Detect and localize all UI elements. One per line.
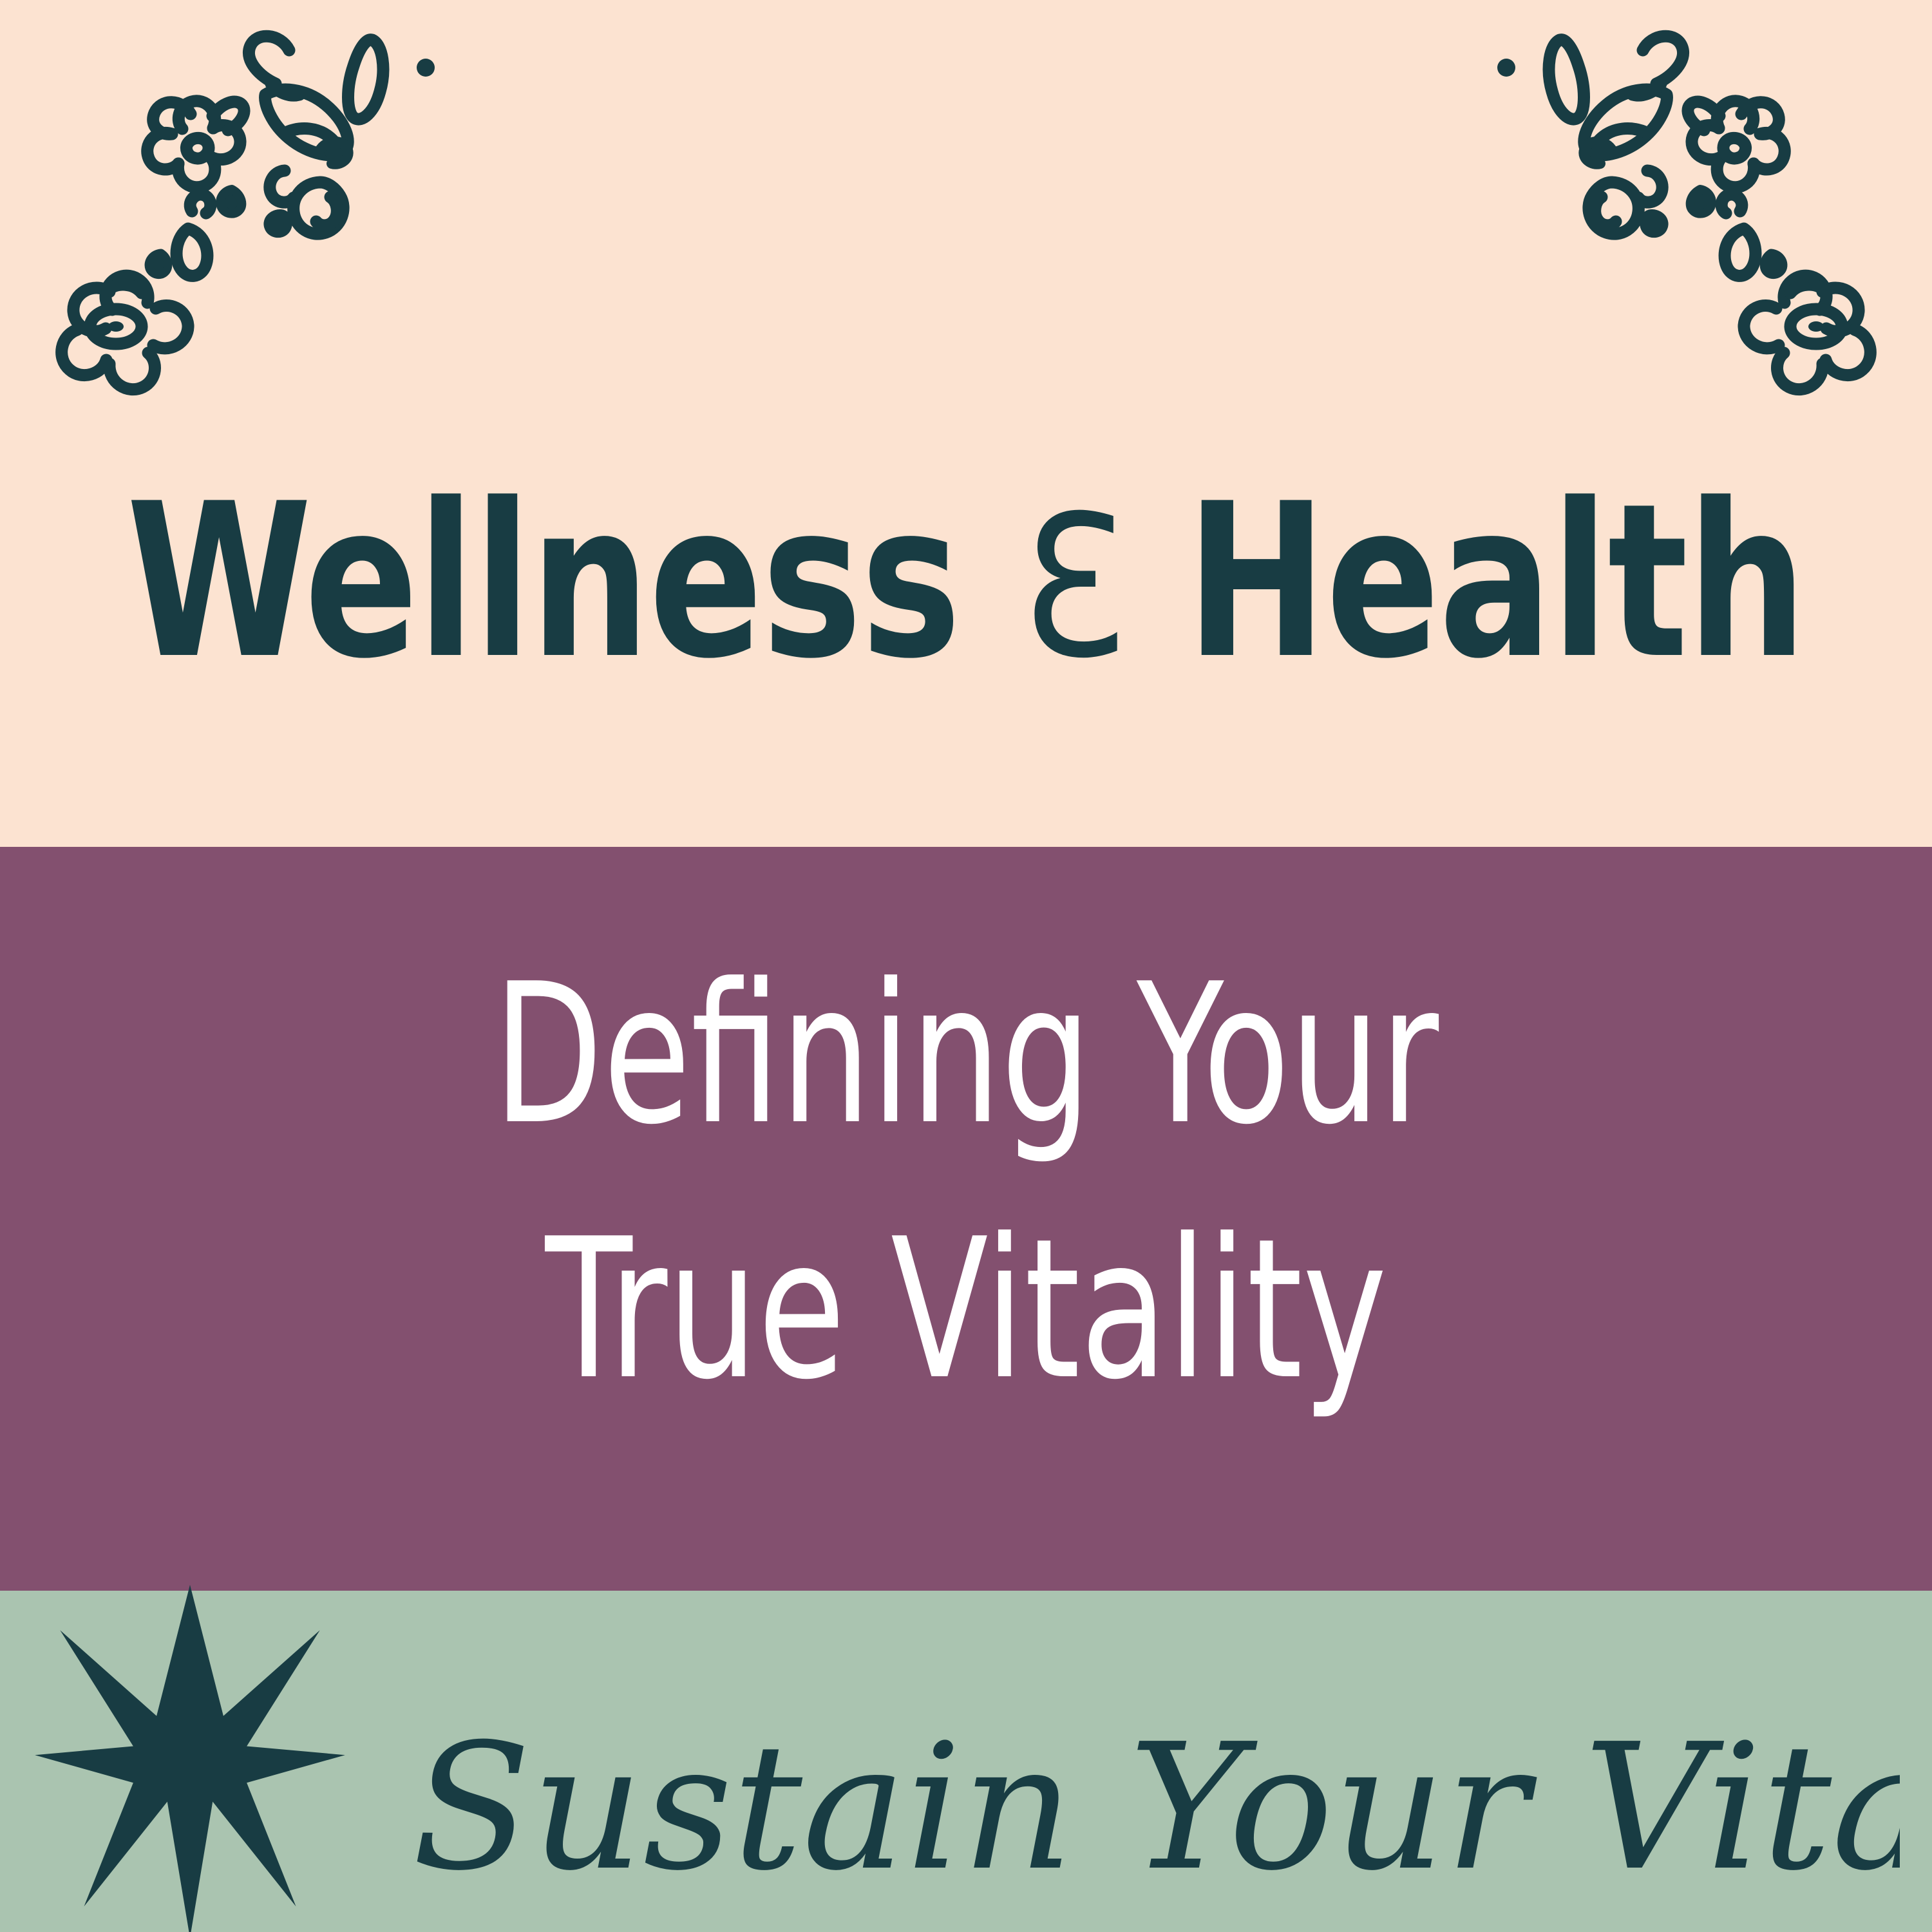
title-part-wellness: Wellness (126, 458, 1018, 705)
poster-canvas: Wellness Ɛ Health Defining Your True Vit… (0, 0, 1932, 1932)
subtitle-line-2: True Vitality (174, 1182, 1758, 1437)
floral-doodle-icon (1443, 6, 1893, 406)
tagline: Sustain Your Vitality (399, 1610, 1900, 1932)
top-band: Wellness Ɛ Health (0, 0, 1932, 847)
page-title: Wellness Ɛ Health (116, 475, 1816, 688)
floral-doodle-icon (39, 6, 489, 406)
seven-pointed-star-icon (35, 1610, 345, 1913)
subtitle-line-1: Defining Your (174, 927, 1758, 1182)
subtitle: Defining Your True Vitality (174, 927, 1758, 1437)
tagline-text: Sustain Your Vitality (412, 1706, 1900, 1909)
title-part-health: Health (1129, 458, 1806, 705)
ampersand-glyph: Ɛ (1018, 490, 1129, 686)
